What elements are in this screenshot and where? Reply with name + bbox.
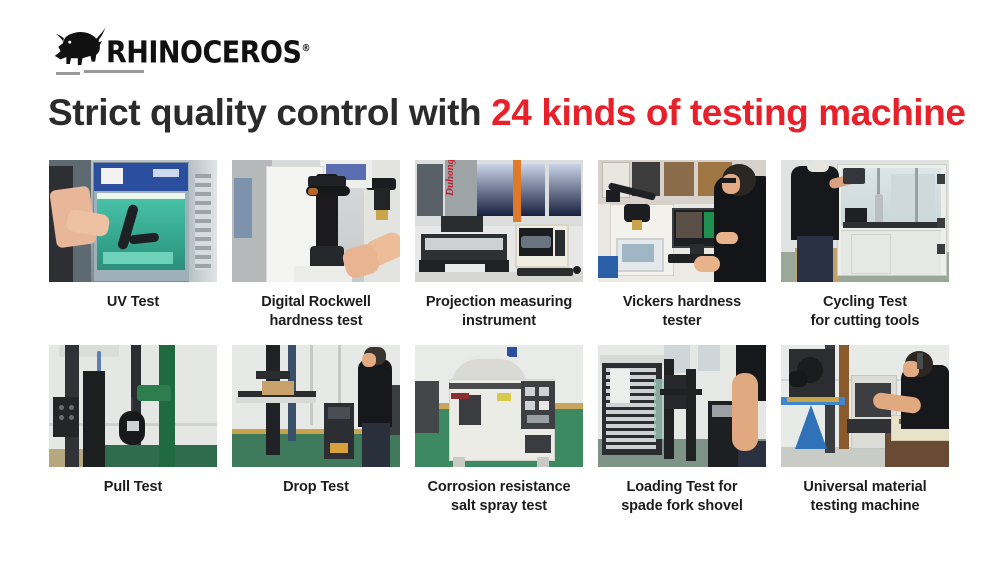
logo-underline-long: [84, 70, 144, 73]
gallery-item-caption: Corrosion resistancesalt spray test: [415, 478, 583, 516]
vickers-hardness-tester-photo: [598, 160, 766, 282]
projection-measuring-instrument-photo: Duhong: [415, 160, 583, 282]
gallery-item-caption: Vickers hardnesstester: [598, 293, 766, 331]
slide-root: RHINOCEROS® Strict quality control with …: [0, 0, 1000, 562]
gallery-item-uv-test[interactable]: UV Test: [49, 160, 217, 331]
gallery-item-caption: Digital Rockwellhardness test: [232, 293, 400, 331]
brand-name: RHINOCEROS: [106, 36, 301, 71]
gallery-item-caption: Cycling Testfor cutting tools: [781, 293, 949, 331]
gallery-item-projection-measuring-instrument[interactable]: Duhong Projection measuringinstrument: [415, 160, 583, 331]
cycling-test-for-cutting-tools-photo: [781, 160, 949, 282]
gallery-item-pull-test[interactable]: Pull Test: [49, 345, 217, 516]
rhino-logo-icon: [50, 26, 108, 72]
title-prefix: Strict quality control with: [48, 92, 491, 133]
gallery-item-corrosion-resistance-salt-spray-test[interactable]: Corrosion resistancesalt spray test: [415, 345, 583, 516]
brand-wordmark: RHINOCEROS®: [106, 38, 310, 68]
gallery-item-loading-test-for-spade-fork-shovel[interactable]: Loading Test forspade fork shovel: [598, 345, 766, 516]
brand-logo: RHINOCEROS®: [50, 26, 310, 72]
universal-material-testing-machine-photo: [781, 345, 949, 467]
page-title: Strict quality control with 24 kinds of …: [48, 93, 966, 134]
gallery-item-caption: Universal materialtesting machine: [781, 478, 949, 516]
projection-brand-label: Duhong: [444, 170, 478, 196]
gallery-item-digital-rockwell-hardness-test[interactable]: Digital Rockwellhardness test: [232, 160, 400, 331]
gallery-item-caption: Loading Test forspade fork shovel: [598, 478, 766, 516]
digital-rockwell-hardness-test-photo: [232, 160, 400, 282]
gallery-row-2: Pull Test Drop Test: [49, 345, 952, 516]
corrosion-resistance-salt-spray-test-photo: [415, 345, 583, 467]
uv-test-photo: [49, 160, 217, 282]
registered-mark: ®: [301, 43, 310, 54]
gallery-row-1: UV Test Digital Rockwellhardness test: [49, 160, 952, 331]
gallery-item-caption: Pull Test: [49, 478, 217, 497]
gallery-item-caption: UV Test: [49, 293, 217, 312]
testing-machine-gallery: UV Test Digital Rockwellhardness test: [49, 160, 952, 515]
gallery-item-vickers-hardness-tester[interactable]: Vickers hardnesstester: [598, 160, 766, 331]
gallery-item-cycling-test-for-cutting-tools[interactable]: Cycling Testfor cutting tools: [781, 160, 949, 331]
title-highlight: 24 kinds of testing machine: [491, 92, 965, 133]
gallery-item-caption: Drop Test: [232, 478, 400, 497]
gallery-item-universal-material-testing-machine[interactable]: Universal materialtesting machine: [781, 345, 949, 516]
drop-test-photo: [232, 345, 400, 467]
pull-test-photo: [49, 345, 217, 467]
gallery-item-drop-test[interactable]: Drop Test: [232, 345, 400, 516]
loading-test-for-spade-fork-shovel-photo: [598, 345, 766, 467]
gallery-item-caption: Projection measuringinstrument: [415, 293, 583, 331]
logo-underline-short: [56, 72, 80, 75]
